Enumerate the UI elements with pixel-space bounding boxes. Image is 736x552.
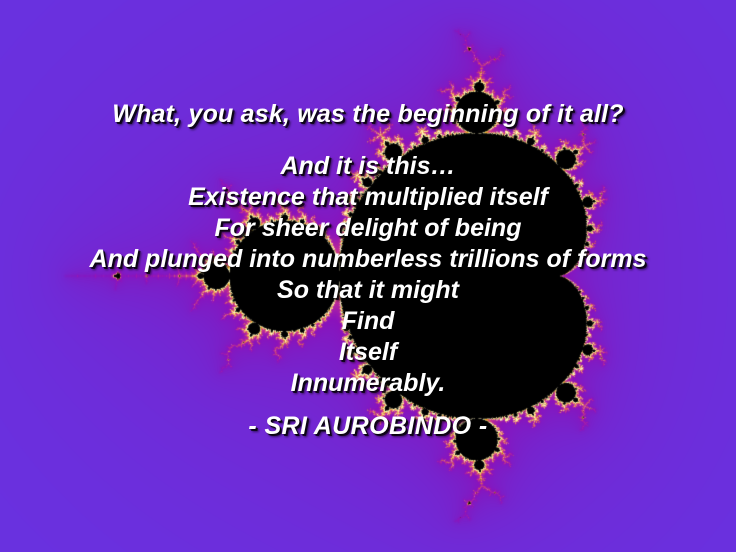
poem-line-5: So that it might — [0, 276, 736, 305]
slide-canvas: What, you ask, was the beginning of it a… — [0, 0, 736, 552]
slide-title: What, you ask, was the beginning of it a… — [0, 100, 736, 129]
slide-text-layer: What, you ask, was the beginning of it a… — [0, 0, 736, 552]
poem-line-1: And it is this… — [0, 152, 736, 181]
poem-line-4: And plunged into numberless trillions of… — [0, 245, 736, 274]
poem-line-2: Existence that multiplied itself — [0, 183, 736, 212]
poem-line-3: For sheer delight of being — [0, 214, 736, 243]
poem-line-6: Find — [0, 307, 736, 336]
poem-line-7: Itself — [0, 338, 736, 367]
attribution-line: - SRI AUROBINDO - — [0, 412, 736, 441]
poem-line-8: Innumerably. — [0, 369, 736, 398]
